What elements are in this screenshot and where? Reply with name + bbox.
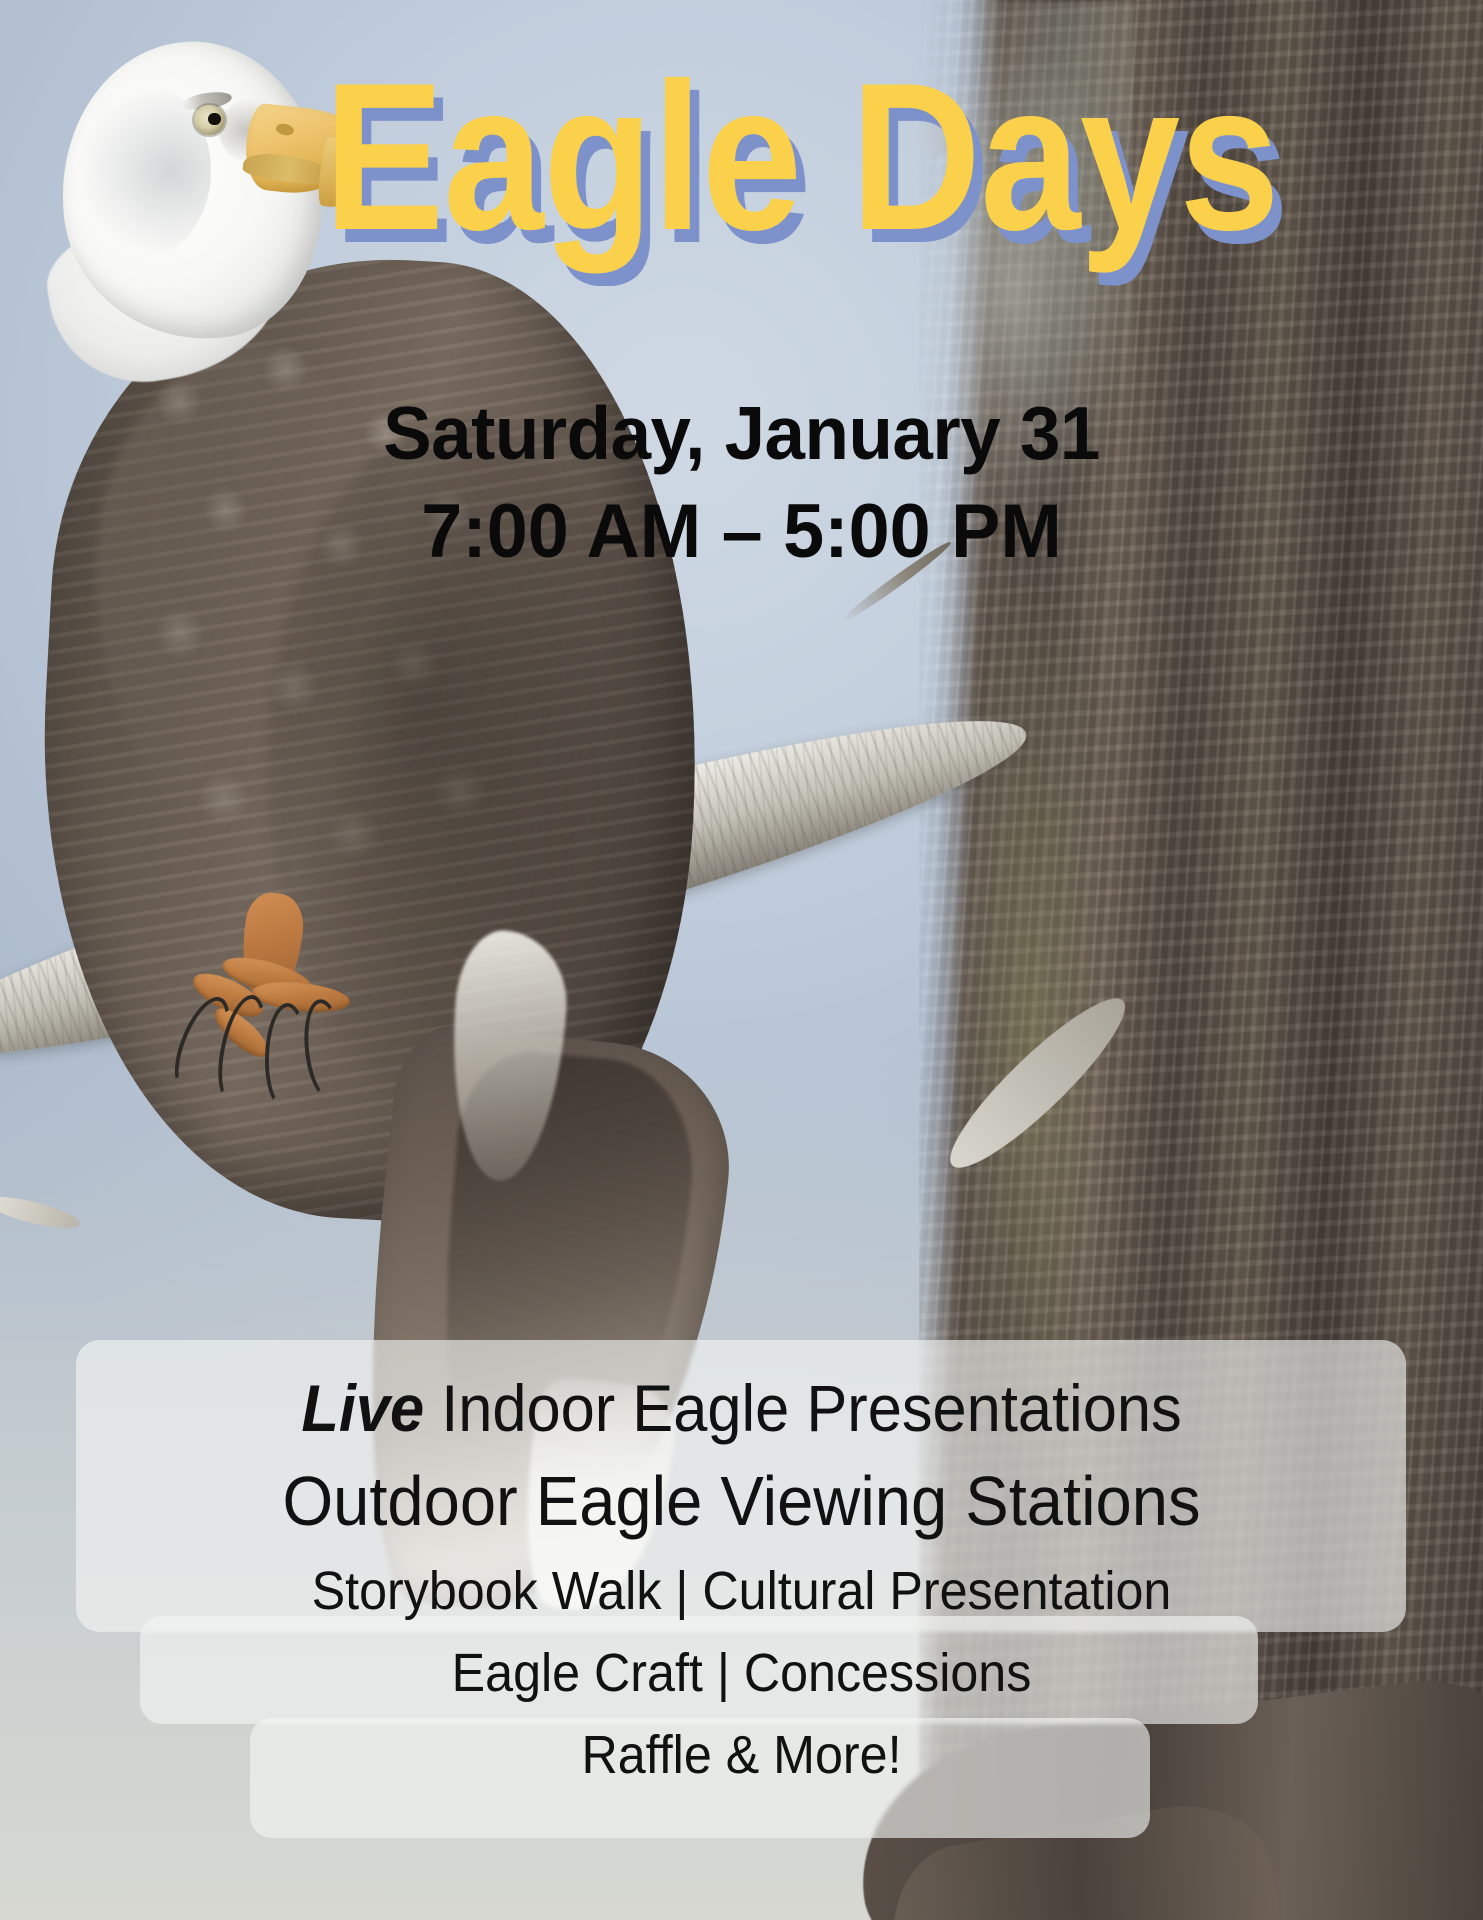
detail-line-raffle: Raffle & More! xyxy=(52,1714,1431,1796)
detail-text: Indoor Eagle Presentations xyxy=(424,1371,1182,1445)
event-details-block: Live Indoor Eagle Presentations Outdoor … xyxy=(0,1362,1483,1796)
detail-emphasis: Live xyxy=(301,1371,424,1445)
detail-line-storybook-cultural: Storybook Walk | Cultural Presentation xyxy=(52,1550,1431,1632)
detail-line-viewing-stations: Outdoor Eagle Viewing Stations xyxy=(52,1454,1431,1549)
eagle-days-flyer: Eagle Days Saturday, January 31 7:00 AM … xyxy=(0,0,1483,1920)
detail-line-craft-concessions: Eagle Craft | Concessions xyxy=(52,1632,1431,1714)
detail-line-presentations: Live Indoor Eagle Presentations xyxy=(52,1362,1431,1454)
